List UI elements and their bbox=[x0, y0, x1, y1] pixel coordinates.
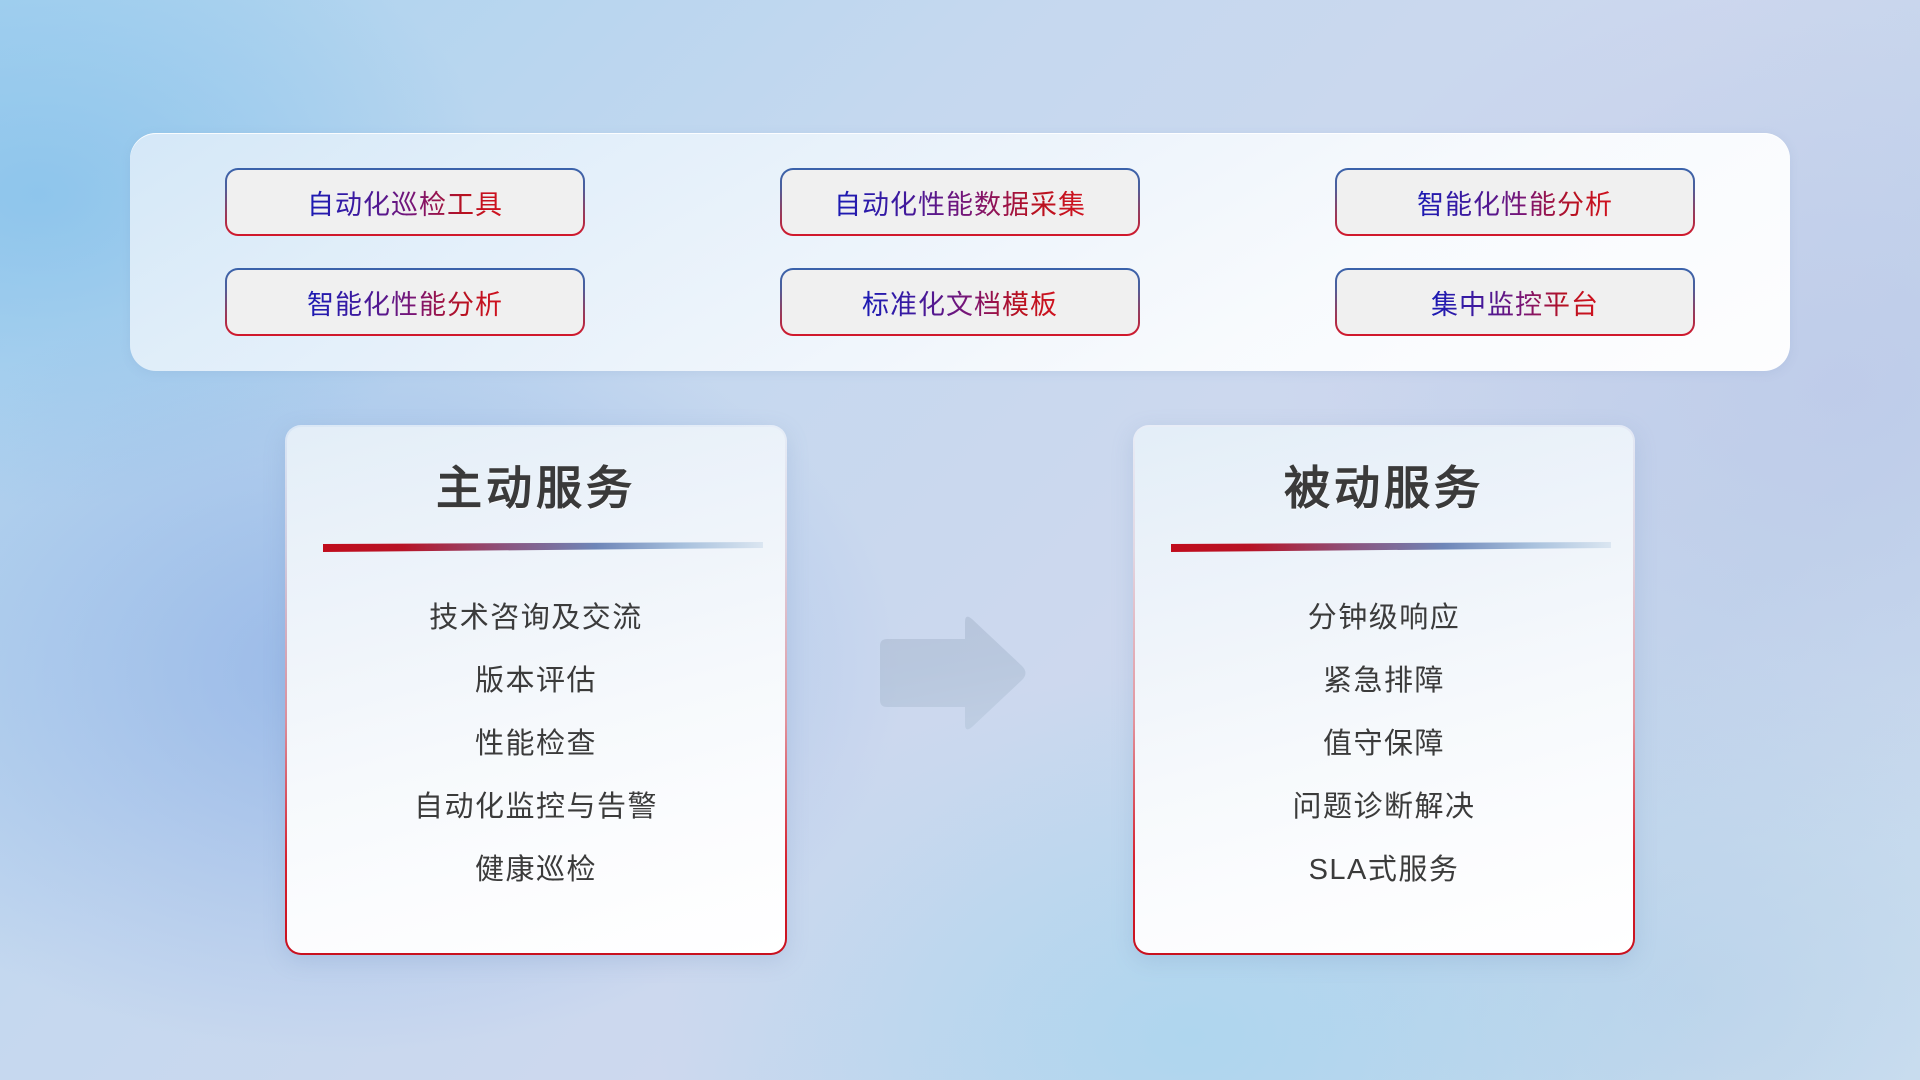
service-item: 自动化监控与告警 bbox=[414, 776, 658, 839]
service-item: 版本评估 bbox=[475, 650, 597, 713]
capability-pill[interactable]: 自动化性能数据采集 bbox=[780, 168, 1140, 236]
service-item: 值守保障 bbox=[1323, 713, 1445, 776]
capability-pill-label: 标准化文档模板 bbox=[862, 283, 1058, 322]
service-card-proactive: 主动服务 技术咨询及交流 版本评估 性能检查 bbox=[285, 425, 787, 955]
service-card-title: 主动服务 bbox=[436, 463, 636, 515]
capability-pill-surface: 自动化巡检工具 bbox=[227, 170, 583, 234]
capability-pill[interactable]: 智能化性能分析 bbox=[1335, 168, 1695, 236]
title-divider bbox=[323, 541, 763, 555]
capability-pill-surface: 智能化性能分析 bbox=[1337, 170, 1693, 234]
service-item: 技术咨询及交流 bbox=[429, 587, 643, 650]
title-divider bbox=[1171, 541, 1611, 555]
capability-pill-label: 智能化性能分析 bbox=[1417, 183, 1613, 222]
diagram-canvas: 自动化巡检工具 自动化性能数据采集 智能化性能分析 智能化性能分析 bbox=[0, 0, 1920, 1080]
capability-pill[interactable]: 智能化性能分析 bbox=[225, 268, 585, 336]
service-item-list: 技术咨询及交流 版本评估 性能检查 自动化监控与告警 健康巡检 bbox=[313, 587, 759, 902]
capability-pill[interactable]: 自动化巡检工具 bbox=[225, 168, 585, 236]
capability-pill-surface: 智能化性能分析 bbox=[227, 270, 583, 334]
service-item: 健康巡检 bbox=[475, 839, 597, 902]
service-card-surface: 被动服务 分钟级响应 紧急排障 值守保障 bbox=[1135, 427, 1633, 953]
service-card-surface: 主动服务 技术咨询及交流 版本评估 性能检查 bbox=[287, 427, 785, 953]
service-item: 问题诊断解决 bbox=[1292, 776, 1475, 839]
capabilities-grid: 自动化巡检工具 自动化性能数据采集 智能化性能分析 智能化性能分析 bbox=[182, 159, 1738, 345]
capability-pill-surface: 自动化性能数据采集 bbox=[782, 170, 1138, 234]
capability-pill-label: 智能化性能分析 bbox=[307, 283, 503, 322]
arrow-right-icon bbox=[872, 612, 1028, 734]
service-item: 分钟级响应 bbox=[1308, 587, 1461, 650]
service-item-list: 分钟级响应 紧急排障 值守保障 问题诊断解决 SLA式服务 bbox=[1161, 587, 1607, 902]
capability-pill-label: 自动化巡检工具 bbox=[307, 183, 503, 222]
service-item: SLA式服务 bbox=[1309, 839, 1460, 902]
service-card-reactive: 被动服务 分钟级响应 紧急排障 值守保障 bbox=[1133, 425, 1635, 955]
capability-pill[interactable]: 集中监控平台 bbox=[1335, 268, 1695, 336]
capability-pill-surface: 集中监控平台 bbox=[1337, 270, 1693, 334]
capability-pill-surface: 标准化文档模板 bbox=[782, 270, 1138, 334]
capability-pill-label: 自动化性能数据采集 bbox=[834, 183, 1086, 222]
capability-pill[interactable]: 标准化文档模板 bbox=[780, 268, 1140, 336]
capabilities-panel: 自动化巡检工具 自动化性能数据采集 智能化性能分析 智能化性能分析 bbox=[130, 133, 1790, 371]
service-card-title: 被动服务 bbox=[1284, 463, 1484, 515]
capability-pill-label: 集中监控平台 bbox=[1431, 283, 1599, 322]
service-item: 性能检查 bbox=[475, 713, 597, 776]
service-item: 紧急排障 bbox=[1323, 650, 1445, 713]
